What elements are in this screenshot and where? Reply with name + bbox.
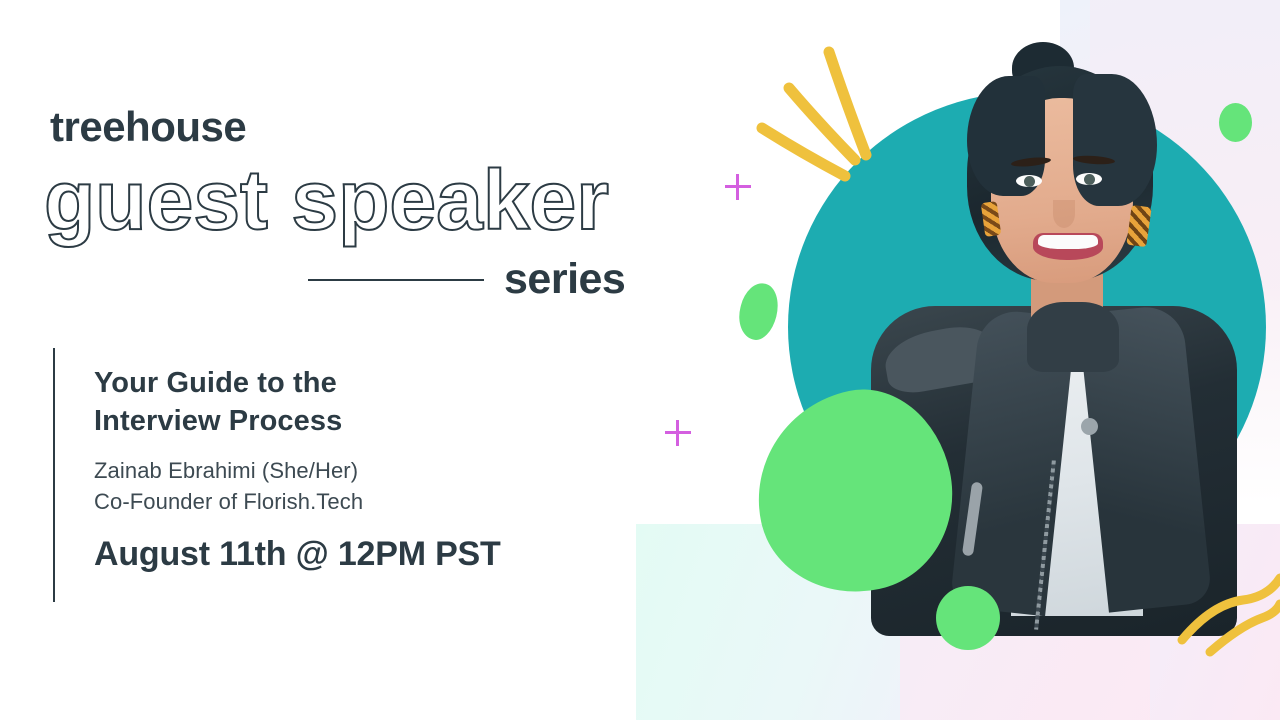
yellow-sparkle-strokes xyxy=(762,52,866,176)
speaker-role: Co-Founder of Florish.Tech xyxy=(94,486,501,517)
speaker-name: Zainab Ebrahimi (She/Her) xyxy=(94,455,501,486)
talk-title-line-1: Your Guide to the xyxy=(94,367,337,399)
talk-title: Your Guide to the Interview Process xyxy=(94,364,501,441)
series-divider-rule xyxy=(308,279,484,281)
guest-speaker-headline: guest speaker xyxy=(44,158,609,242)
title-text-column: treehouse guest speaker series Your Guid… xyxy=(0,0,660,720)
plus-icon-middle xyxy=(665,420,691,446)
plus-icon-top xyxy=(725,174,751,200)
yellow-wave-strokes xyxy=(1182,578,1280,652)
talk-title-line-2: Interview Process xyxy=(94,405,342,437)
series-label: series xyxy=(504,258,625,301)
treehouse-wordmark: treehouse xyxy=(50,106,246,148)
session-datetime: August 11th @ 12PM PST xyxy=(94,535,501,574)
slide-canvas: treehouse guest speaker series Your Guid… xyxy=(0,0,1280,720)
session-details: Your Guide to the Interview Process Zain… xyxy=(53,348,501,602)
series-row: series xyxy=(308,258,628,301)
